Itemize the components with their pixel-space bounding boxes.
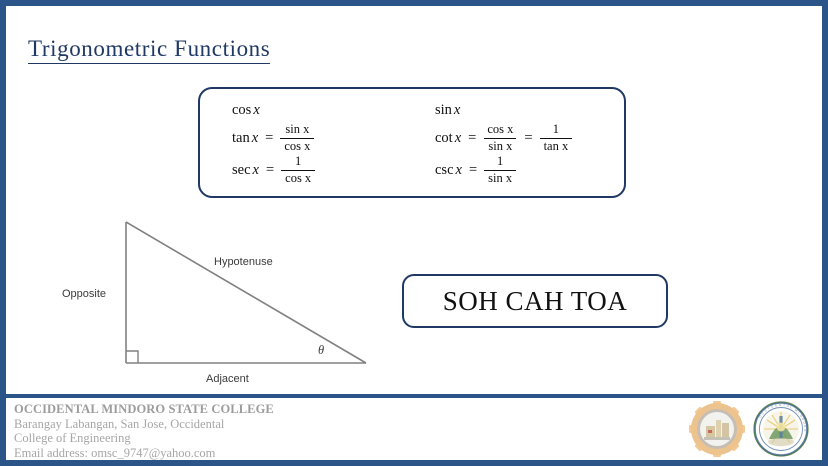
fraction-numerator: sin x: [281, 123, 313, 137]
fraction-cos-over-sin: cos x sin x: [483, 123, 517, 152]
formula-cot-label: cotx: [435, 130, 461, 147]
mnemonic-box: SOH CAH TOA: [402, 274, 668, 328]
footer-institution: OCCIDENTAL MINDORO STATE COLLEGE: [14, 402, 274, 417]
footer: OCCIDENTAL MINDORO STATE COLLEGE Baranga…: [6, 394, 822, 460]
page-title: Trigonometric Functions: [28, 36, 270, 64]
formula-column-right: sinx cotx = cos x sin x = 1 tan x: [421, 98, 624, 196]
mnemonic-text: SOH CAH TOA: [443, 286, 628, 317]
footer-text-block: OCCIDENTAL MINDORO STATE COLLEGE Baranga…: [14, 402, 274, 460]
fraction-numerator: 1: [549, 123, 563, 137]
formula-sin: sinx: [435, 98, 624, 122]
formula-cos-label: cosx: [232, 102, 260, 119]
college-seal-icon: O C C I D E N T A L M I N D O: [752, 400, 810, 458]
svg-text:N: N: [779, 403, 782, 407]
formula-csc: cscx = 1 sin x: [435, 154, 624, 186]
triangle-label-hypotenuse: Hypotenuse: [214, 256, 273, 268]
footer-email: Email address: omsc_9747@yahoo.com: [14, 446, 274, 461]
formula-csc-label: cscx: [435, 162, 462, 179]
formula-cos: cosx: [232, 98, 421, 122]
fraction-one-over-tan: 1 tan x: [540, 123, 573, 152]
fraction-numerator: 1: [291, 155, 305, 169]
formula-sec-label: secx: [232, 162, 259, 179]
fraction-one-over-sin: 1 sin x: [484, 155, 516, 184]
fraction-denominator: cos x: [280, 138, 314, 153]
formula-tan-label: tanx: [232, 130, 258, 147]
engineering-gear-seal-icon: [688, 400, 746, 458]
right-triangle-diagram: Opposite Hypotenuse Adjacent θ: [46, 211, 396, 399]
equals-sign: =: [462, 162, 484, 179]
equals-sign: =: [461, 130, 483, 147]
fraction-denominator: tan x: [540, 138, 573, 153]
fraction-numerator: cos x: [483, 123, 517, 137]
equals-sign: =: [258, 130, 280, 147]
trig-formula-box: cosx tanx = sin x cos x secx = 1 cos x: [198, 87, 626, 198]
fraction-one-over-cos: 1 cos x: [281, 155, 315, 184]
footer-department: College of Engineering: [14, 431, 274, 446]
triangle-svg: [46, 211, 396, 399]
formula-cot: cotx = cos x sin x = 1 tan x: [435, 122, 624, 154]
fraction-sin-over-cos: sin x cos x: [280, 123, 314, 152]
fraction-numerator: 1: [493, 155, 507, 169]
formula-tan: tanx = sin x cos x: [232, 122, 421, 154]
triangle-label-theta: θ: [318, 343, 324, 358]
footer-address: Barangay Labangan, San Jose, Occidental: [14, 417, 274, 432]
formula-sin-label: sinx: [435, 102, 460, 119]
formula-column-left: cosx tanx = sin x cos x secx = 1 cos x: [232, 98, 421, 196]
right-angle-marker-icon: [126, 351, 138, 363]
slide: Trigonometric Functions cosx tanx = sin …: [0, 0, 828, 466]
formula-columns: cosx tanx = sin x cos x secx = 1 cos x: [200, 89, 624, 196]
equals-sign-second: =: [517, 130, 539, 147]
fraction-denominator: sin x: [484, 170, 516, 185]
fraction-denominator: cos x: [281, 170, 315, 185]
fraction-denominator: sin x: [484, 138, 516, 153]
triangle-label-opposite: Opposite: [62, 288, 106, 300]
formula-sec: secx = 1 cos x: [232, 154, 421, 186]
equals-sign: =: [259, 162, 281, 179]
triangle-label-adjacent: Adjacent: [206, 373, 249, 385]
triangle-hypotenuse-side: [126, 222, 366, 363]
footer-logos: O C C I D E N T A L M I N D O: [688, 400, 810, 458]
